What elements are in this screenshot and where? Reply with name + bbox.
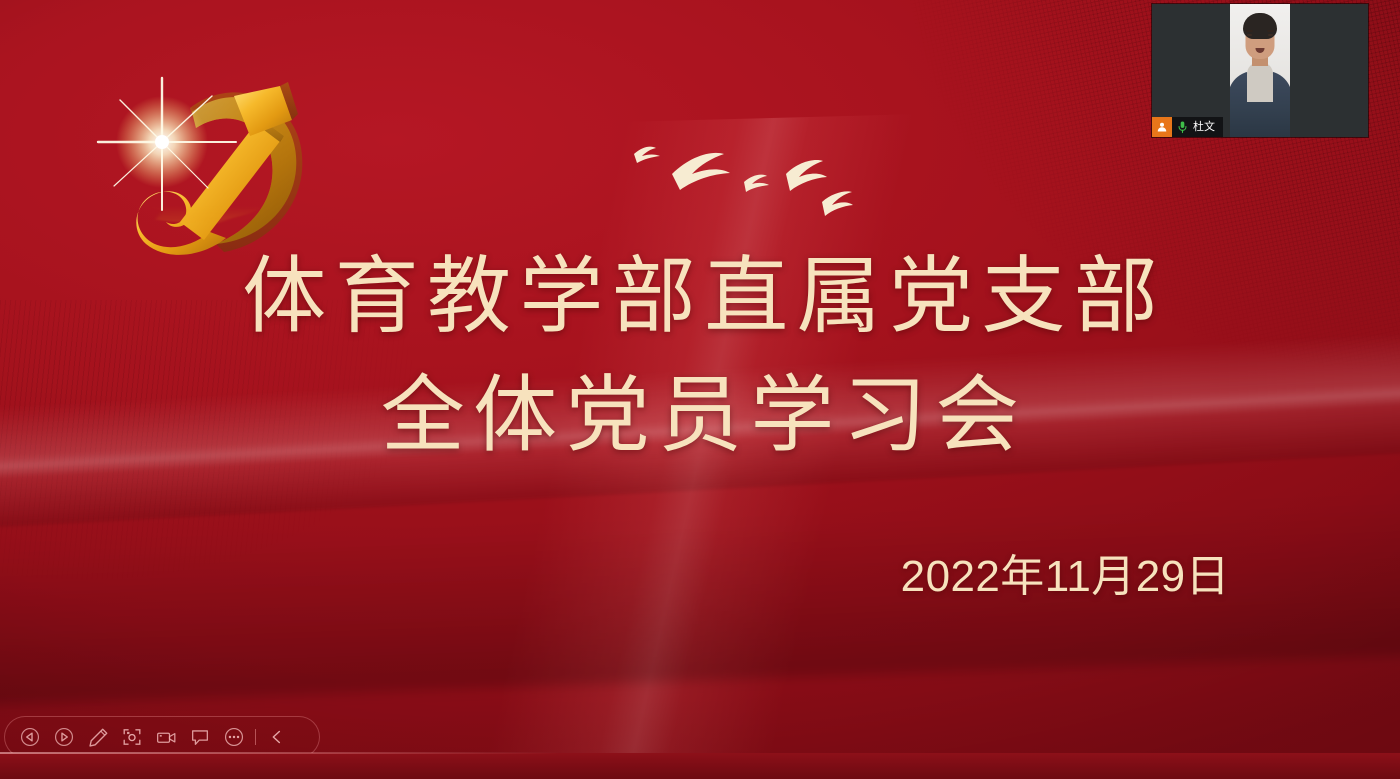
more-options-button[interactable] [217,720,251,754]
flying-birds-decoration [620,128,880,223]
participant-shirt [1247,62,1273,102]
annotate-pen-button[interactable] [81,720,115,754]
slide-date: 2022年11月29日 [901,540,1230,604]
microphone-icon [1177,121,1188,134]
participant-name: 杜文 [1193,122,1215,133]
collapse-toolbar-button[interactable] [260,720,294,754]
participant-label: 杜文 [1152,117,1223,137]
slide-bottom-band [0,753,1400,779]
person-icon [1152,117,1172,137]
video-letterbox-right [1290,4,1368,137]
slide-bottom-highlight-line [0,752,1400,754]
participant-video-panel[interactable]: 杜文 [1152,4,1368,137]
participant-video-feed [1230,4,1290,137]
chat-button[interactable] [183,720,217,754]
cpc-hammer-sickle-emblem [84,44,316,284]
video-button[interactable] [149,720,183,754]
laser-pointer-button[interactable] [115,720,149,754]
toolbar-divider [255,729,256,745]
previous-slide-button[interactable] [13,720,47,754]
next-slide-button[interactable] [47,720,81,754]
presentation-slide-stage: 体育教学部直属党支部 全体党员学习会 2022年11月29日 [0,0,1400,779]
